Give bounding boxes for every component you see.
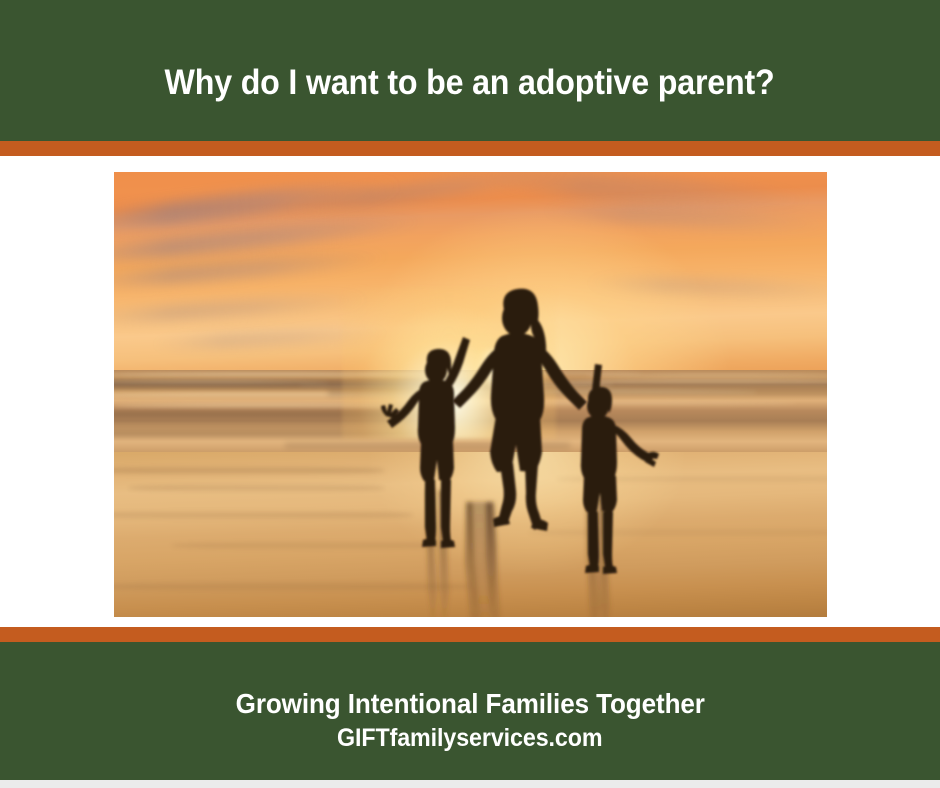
family-silhouettes <box>114 172 827 617</box>
divider-orange-bottom <box>0 627 940 642</box>
organization-tagline: Growing Intentional Families Together <box>235 688 704 720</box>
page-title: Why do I want to be an adoptive parent? <box>165 64 775 103</box>
child-right-silhouette <box>581 364 659 574</box>
divider-orange-top <box>0 141 940 156</box>
website-url: GIFTfamilyservices.com <box>337 724 602 753</box>
hero-photo <box>114 172 827 617</box>
bottom-edge-strip <box>0 780 940 788</box>
footer-band: Growing Intentional Families Together GI… <box>0 642 940 780</box>
beach-sunset-image <box>114 172 827 617</box>
silhouette-reflections <box>427 490 610 617</box>
child-left-silhouette <box>381 337 470 548</box>
poster: Why do I want to be an adoptive parent? <box>0 0 940 788</box>
parent-silhouette <box>452 289 587 531</box>
header-band: Why do I want to be an adoptive parent? <box>0 0 940 141</box>
